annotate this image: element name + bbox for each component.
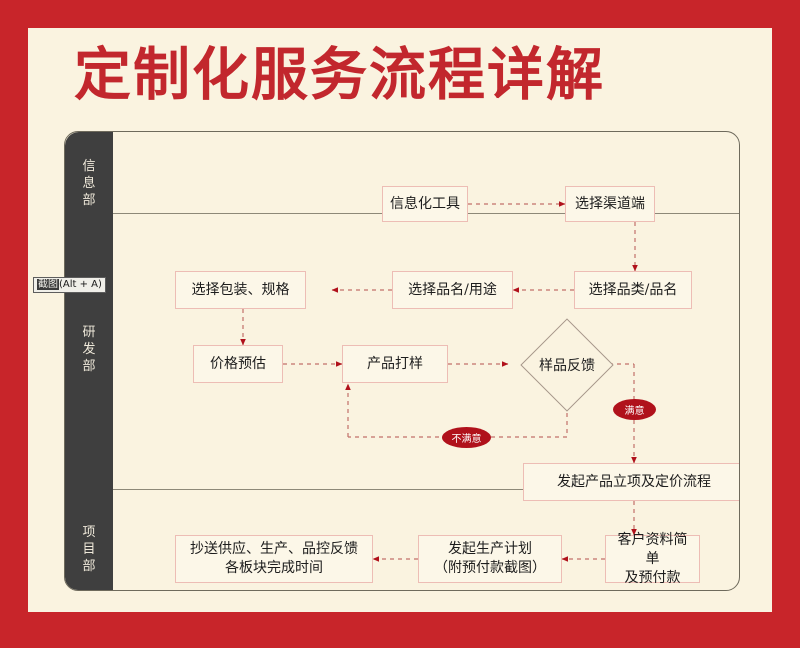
lane-label-info: 信 息 部: [65, 158, 113, 209]
flowchart-panel: 信 息 部 研 发 部 项 目 部: [64, 131, 740, 591]
diamond-label: 样品反馈: [539, 355, 595, 375]
lane-label-rnd: 研 发 部: [65, 324, 113, 375]
node-price-estimate[interactable]: 价格预估: [193, 345, 283, 383]
lane-char: 部: [65, 558, 113, 575]
tooltip-hotkey-text: (Alt + A): [59, 279, 102, 290]
node-cc-supply-production-qc[interactable]: 抄送供应、生产、品控反馈 各板块完成时间: [175, 535, 373, 583]
node-customer-info-prepayment[interactable]: 客户资料简单 及预付款: [605, 535, 700, 583]
lane-char: 项: [65, 524, 113, 541]
lane-label-project: 项 目 部: [65, 524, 113, 575]
node-product-sampling[interactable]: 产品打样: [342, 345, 448, 383]
node-initiate-product-pricing[interactable]: 发起产品立项及定价流程: [523, 463, 740, 501]
badge-not-satisfied: 不满意: [442, 427, 491, 448]
node-initiate-production-plan[interactable]: 发起生产计划 （附预付款截图）: [418, 535, 562, 583]
lane-char: 目: [65, 541, 113, 558]
lane-char: 息: [65, 175, 113, 192]
node-select-category-product[interactable]: 选择品类/品名: [574, 271, 692, 309]
poster-page: 定制化服务流程详解 信 息 部 研 发 部 项 目 部: [28, 28, 772, 612]
node-informatization-tool[interactable]: 信息化工具: [382, 186, 468, 222]
screenshot-hotkey-tooltip: 截图(Alt + A): [33, 277, 106, 293]
node-select-packaging-spec[interactable]: 选择包装、规格: [175, 271, 306, 309]
node-select-channel[interactable]: 选择渠道端: [565, 186, 655, 222]
lane-char: 发: [65, 341, 113, 358]
lane-char: 研: [65, 324, 113, 341]
lane-char: 信: [65, 158, 113, 175]
page-title: 定制化服务流程详解: [74, 46, 605, 103]
tooltip-selected-text: 截图: [37, 279, 59, 290]
lane-char: 部: [65, 358, 113, 375]
node-select-product-usage[interactable]: 选择品名/用途: [392, 271, 513, 309]
node-sample-feedback[interactable]: 样品反馈: [520, 318, 614, 412]
badge-satisfied: 满意: [613, 399, 656, 420]
lane-char: 部: [65, 192, 113, 209]
